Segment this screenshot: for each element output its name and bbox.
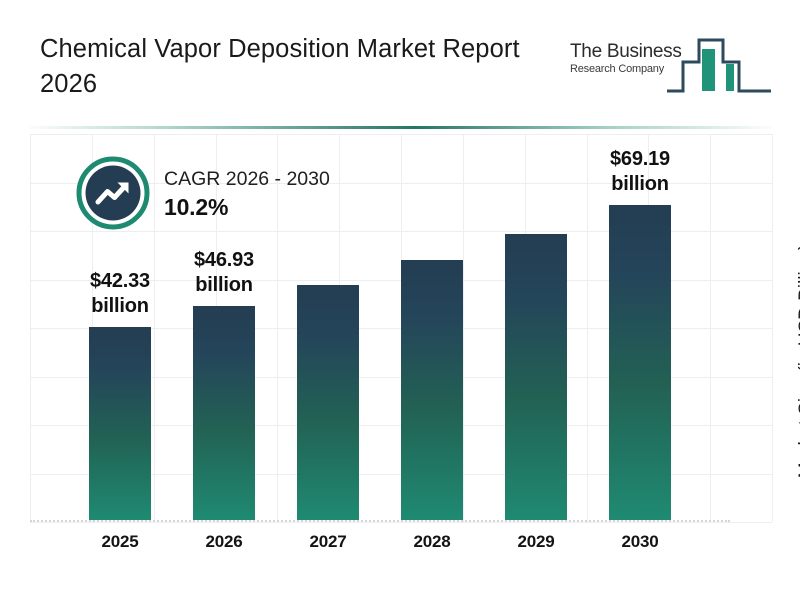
bar-value-unit: billion [164, 273, 284, 298]
bar-series: $42.33billion$46.93billion$69.19billion [0, 0, 800, 600]
bar-value-label-2026: $46.93billion [164, 248, 284, 298]
x-axis-tick-2029: 2029 [486, 532, 586, 552]
x-axis-tick-2030: 2030 [590, 532, 690, 552]
bar-value-unit: billion [580, 172, 700, 197]
bar-2030 [609, 205, 671, 520]
bar-2028 [401, 260, 463, 520]
bar-value-amount: $46.93 [164, 248, 284, 273]
bar-2029 [505, 234, 567, 520]
bar-value-label-2025: $42.33billion [60, 269, 180, 319]
x-axis-tick-2028: 2028 [382, 532, 482, 552]
bar-value-label-2030: $69.19billion [580, 147, 700, 197]
cagr-text-block: CAGR 2026 - 2030 10.2% [164, 166, 394, 222]
cagr-value-label: 10.2% [164, 192, 394, 222]
bar-2027 [297, 285, 359, 520]
chart-page: Chemical Vapor Deposition Market Report … [0, 0, 800, 600]
x-axis-tick-2027: 2027 [278, 532, 378, 552]
bar-2026 [193, 306, 255, 520]
bar-value-amount: $69.19 [580, 147, 700, 172]
x-axis-tick-2026: 2026 [174, 532, 274, 552]
bar-value-amount: $42.33 [60, 269, 180, 294]
trending-up-arrow-icon [76, 156, 150, 230]
x-axis-tick-2025: 2025 [70, 532, 170, 552]
bar-value-unit: billion [60, 294, 180, 319]
bar-2025 [89, 327, 151, 520]
y-axis-title: Market Size (in USD Billion) [794, 196, 800, 526]
cagr-period-label: CAGR 2026 - 2030 [164, 166, 394, 192]
cagr-callout: CAGR 2026 - 2030 10.2% [76, 156, 396, 234]
